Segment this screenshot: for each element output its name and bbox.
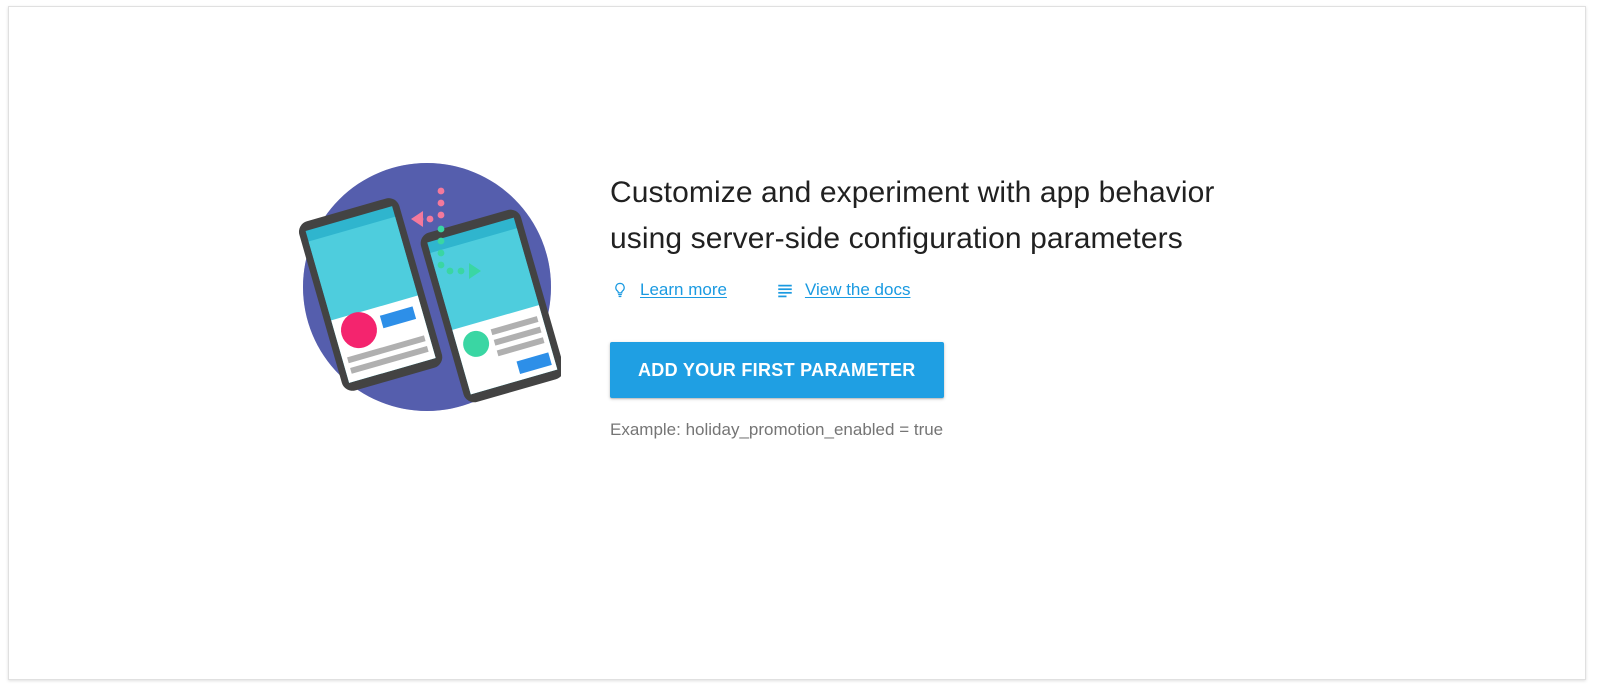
view-docs-link[interactable]: View the docs [775, 280, 911, 300]
empty-state-text-column: Customize and experiment with app behavi… [610, 170, 1250, 440]
page-title: Customize and experiment with app behavi… [610, 170, 1220, 262]
helper-links-row: Learn more View the docs [610, 280, 1250, 300]
example-hint-text: Example: holiday_promotion_enabled = tru… [610, 420, 1250, 440]
add-first-parameter-button[interactable]: ADD YOUR FIRST PARAMETER [610, 342, 944, 398]
lightbulb-icon [610, 280, 630, 300]
learn-more-link[interactable]: Learn more [610, 280, 727, 300]
view-docs-label: View the docs [805, 280, 911, 300]
empty-state-panel: Customize and experiment with app behavi… [9, 7, 1585, 679]
content-card: Customize and experiment with app behavi… [8, 6, 1586, 680]
two-phones-sync-illustration [293, 159, 561, 417]
article-lines-icon [775, 280, 795, 300]
learn-more-label: Learn more [640, 280, 727, 300]
